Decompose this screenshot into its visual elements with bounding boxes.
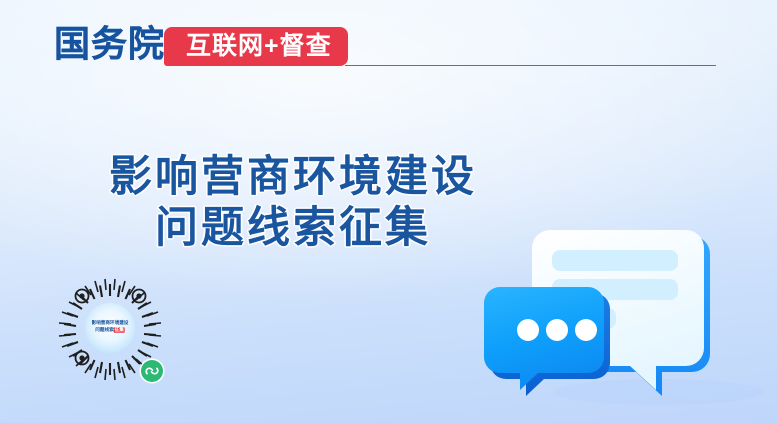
speech-bubbles-illustration xyxy=(478,196,777,416)
internet-supervision-badge-label: 互联网+督查 xyxy=(186,27,332,66)
internet-supervision-badge: 互联网+督查 xyxy=(164,27,348,66)
large-bubble-line-1 xyxy=(552,250,678,271)
wechat-mini-program-icon[interactable] xyxy=(139,358,165,384)
banner-header: 国务院 互联网+督查 xyxy=(0,0,777,90)
mini-program-qr-code[interactable]: 影响营商环境建设 问题线索征集 xyxy=(52,272,168,388)
header-divider-rule xyxy=(345,65,716,66)
banner-root: 国务院 互联网+督查 影响营商环境建设 问题线索征集 xyxy=(0,0,777,423)
gov-council-label: 国务院 xyxy=(54,22,165,66)
small-speech-bubble xyxy=(484,287,610,396)
small-bubble-dots xyxy=(517,319,597,341)
